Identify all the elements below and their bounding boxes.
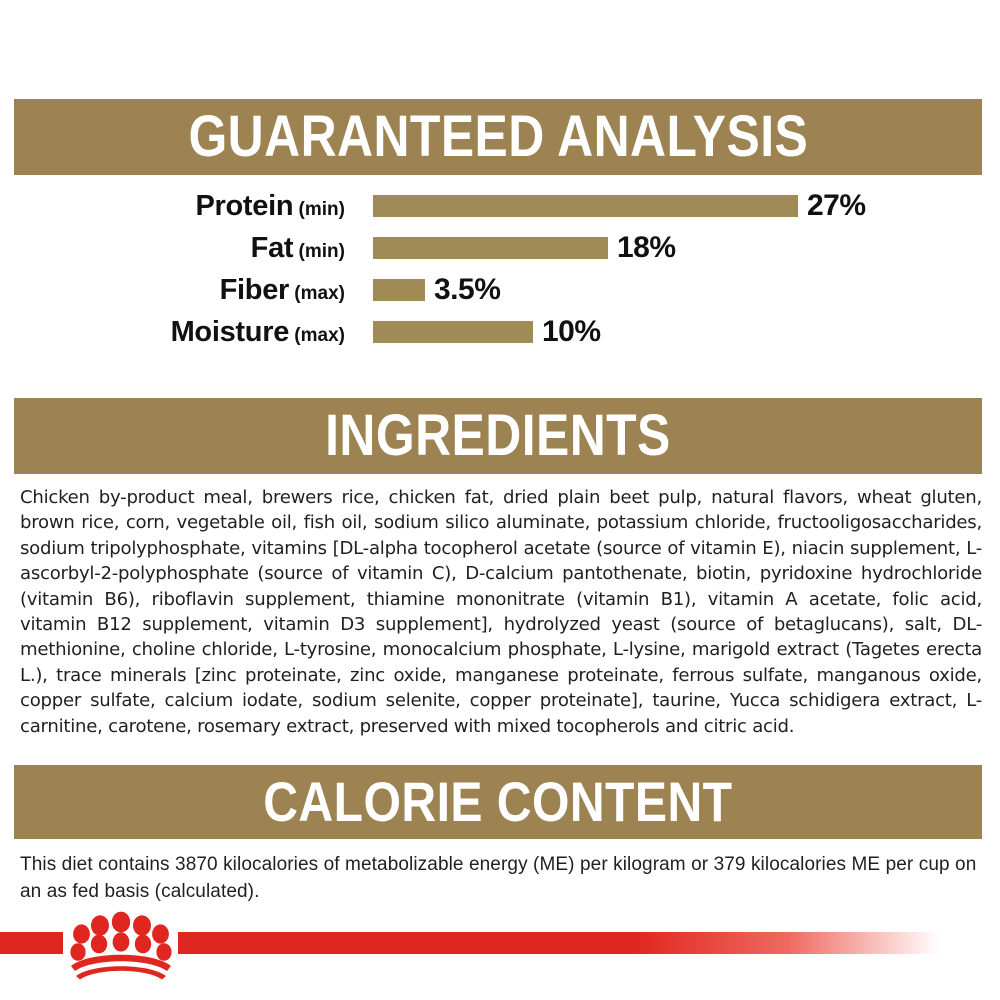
nutrient-qualifier: (max) xyxy=(289,283,345,304)
nutrition-label-page: GUARANTEED ANALYSIS Protein (min)27%Fat … xyxy=(0,0,1000,1000)
ingredients-title: INGREDIENTS xyxy=(325,407,671,465)
nutrient-qualifier: (min) xyxy=(293,199,345,220)
analysis-bar xyxy=(373,237,608,259)
nutrient-qualifier: (max) xyxy=(289,325,345,346)
analysis-bar-track: 18% xyxy=(345,227,1000,269)
analysis-value-label: 3.5% xyxy=(434,275,500,305)
guaranteed-analysis-banner: GUARANTEED ANALYSIS xyxy=(14,99,982,175)
analysis-row: Protein (min)27% xyxy=(0,185,1000,227)
guaranteed-analysis-title: GUARANTEED ANALYSIS xyxy=(188,108,808,166)
guaranteed-analysis-chart: Protein (min)27%Fat (min)18%Fiber (max)3… xyxy=(0,185,1000,353)
ingredients-text: Chicken by-product meal, brewers rice, c… xyxy=(20,485,982,739)
analysis-value-label: 27% xyxy=(807,191,866,221)
analysis-row-label: Fat (min) xyxy=(0,234,345,263)
analysis-bar xyxy=(373,279,425,301)
nutrient-qualifier: (min) xyxy=(293,241,345,262)
analysis-bar xyxy=(373,195,798,217)
calorie-content-title: CALORIE CONTENT xyxy=(263,774,732,830)
analysis-row-label: Moisture (max) xyxy=(0,318,345,347)
calorie-content-banner: CALORIE CONTENT xyxy=(14,765,982,839)
royal-canin-crown-icon xyxy=(63,908,179,980)
red-rule-right xyxy=(178,932,940,954)
analysis-value-label: 10% xyxy=(542,317,601,347)
analysis-row: Moisture (max)10% xyxy=(0,311,1000,353)
analysis-row-label: Fiber (max) xyxy=(0,276,345,305)
nutrient-name: Fat xyxy=(251,232,294,264)
analysis-bar-track: 10% xyxy=(345,311,1000,353)
nutrient-name: Moisture xyxy=(171,316,289,348)
analysis-row: Fiber (max)3.5% xyxy=(0,269,1000,311)
ingredients-banner: INGREDIENTS xyxy=(14,398,982,474)
top-hairline xyxy=(0,0,1000,1)
analysis-row-label: Protein (min) xyxy=(0,192,345,221)
nutrient-name: Fiber xyxy=(220,274,289,306)
analysis-value-label: 18% xyxy=(617,233,676,263)
nutrient-name: Protein xyxy=(195,190,293,222)
analysis-row: Fat (min)18% xyxy=(0,227,1000,269)
analysis-bar-track: 3.5% xyxy=(345,269,1000,311)
analysis-bar xyxy=(373,321,533,343)
red-rule-left xyxy=(0,932,63,954)
calorie-content-text: This diet contains 3870 kilocalories of … xyxy=(20,851,982,905)
analysis-bar-track: 27% xyxy=(345,185,1000,227)
